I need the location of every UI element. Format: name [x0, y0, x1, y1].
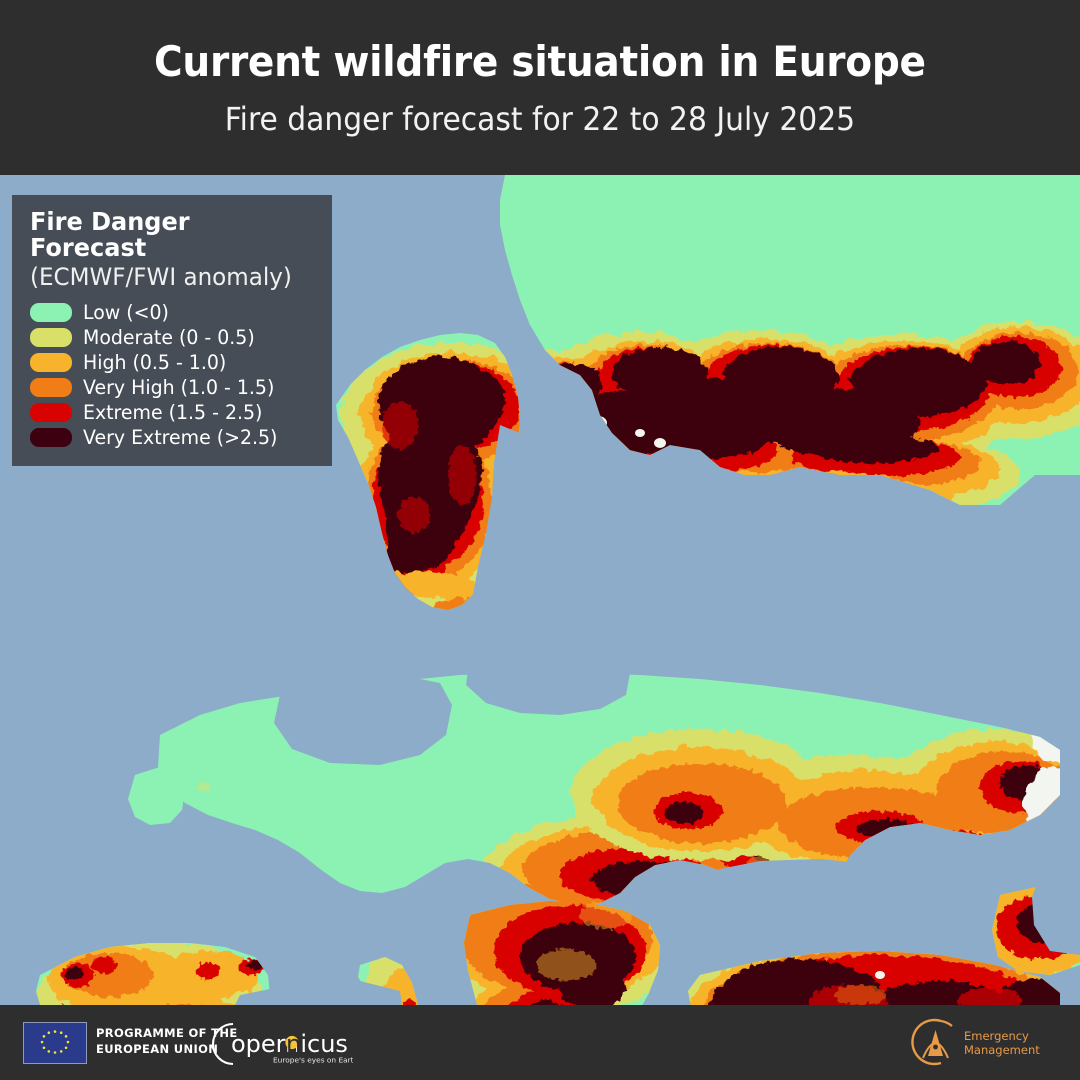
- legend-item-low: Low (<0): [30, 300, 316, 325]
- legend-swatch-low: [30, 303, 72, 322]
- legend-label-high: High (0.5 - 1.0): [83, 353, 226, 373]
- legend-swatch-high: [30, 353, 72, 372]
- legend-swatch-very-extreme: [30, 428, 72, 447]
- legend-item-moderate: Moderate (0 - 0.5): [30, 325, 316, 350]
- legend-label-extreme: Extreme (1.5 - 2.5): [83, 403, 262, 423]
- page-subtitle: Fire danger forecast for 22 to 28 July 2…: [225, 103, 855, 135]
- copernicus-c-arc: [213, 1024, 233, 1064]
- legend-item-very-extreme: Very Extreme (>2.5): [30, 425, 316, 450]
- emergency-management-logo: Emergency Management: [898, 1016, 1078, 1068]
- copernicus-logo: opernicus n Europe's eyes on Earth: [203, 1020, 353, 1068]
- legend-item-extreme: Extreme (1.5 - 2.5): [30, 400, 316, 425]
- copernicus-tagline: Europe's eyes on Earth: [273, 1056, 353, 1065]
- em-label-line1: Emergency: [964, 1029, 1029, 1043]
- header: Current wildfire situation in Europe Fir…: [0, 0, 1080, 175]
- legend-label-very-high: Very High (1.0 - 1.5): [83, 378, 274, 398]
- eu-stars-icon: [24, 1023, 86, 1063]
- eu-flag-icon: [23, 1022, 87, 1064]
- legend-subtitle: (ECMWF/FWI anomaly): [30, 264, 305, 290]
- legend-label-low: Low (<0): [83, 303, 169, 323]
- page-title: Current wildfire situation in Europe: [154, 41, 926, 83]
- em-arc-tip-icon: [941, 1021, 952, 1026]
- legend-item-high: High (0.5 - 1.0): [30, 350, 316, 375]
- legend-swatch-extreme: [30, 403, 72, 422]
- legend-title: Fire Danger Forecast: [30, 209, 305, 262]
- legend-swatch-very-high: [30, 378, 72, 397]
- legend-label-moderate: Moderate (0 - 0.5): [83, 328, 255, 348]
- legend-swatch-moderate: [30, 328, 72, 347]
- fire-danger-map[interactable]: Fire Danger Forecast (ECMWF/FWI anomaly)…: [0, 175, 1080, 1005]
- em-label-line2: Management: [964, 1043, 1040, 1057]
- legend-item-very-high: Very High (1.0 - 1.5): [30, 375, 316, 400]
- legend: Fire Danger Forecast (ECMWF/FWI anomaly)…: [12, 195, 332, 466]
- em-triangle-icon: [928, 1030, 943, 1056]
- wildfire-situation-infographic: Current wildfire situation in Europe Fir…: [0, 0, 1080, 1080]
- legend-label-very-extreme: Very Extreme (>2.5): [83, 428, 277, 448]
- copernicus-n-letter: n: [286, 1030, 301, 1058]
- em-center-dot-icon: [933, 1045, 938, 1050]
